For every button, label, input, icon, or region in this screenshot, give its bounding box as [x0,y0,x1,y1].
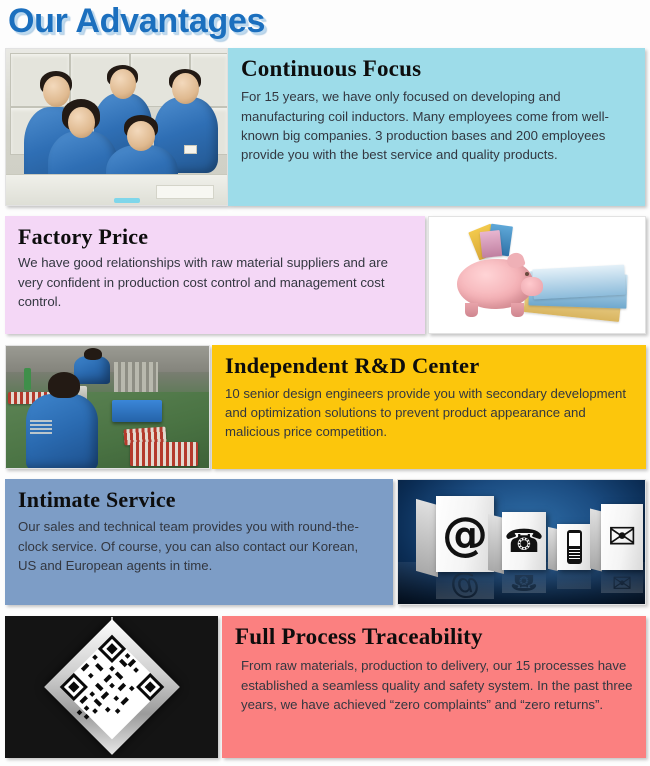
blue-tool [114,198,140,203]
contact-photo-scene: @ @ ☎ ☎ ✉ ✉ [398,480,645,604]
page-title: Our Advantages [8,2,265,41]
banknote [480,230,503,258]
worker-head [127,121,155,151]
advantages-page: Our Advantages [0,0,650,766]
piggy-bank-snout [521,277,543,296]
qr-metal-frame [44,619,180,755]
mobile-phone-reflection [557,571,591,589]
mobile-phone-icon [557,524,591,570]
telephone-reflection: ☎ [502,571,546,593]
advantage-body: For 15 years, we have only focused on de… [241,87,632,165]
qr-code-pattern [59,635,164,740]
advantage-panel-continuous-focus: Continuous Focus For 15 years, we have o… [228,48,645,206]
advantage-heading: Continuous Focus [241,57,632,81]
mobile-phone-glyph [567,530,582,564]
worker-hair [84,348,102,360]
assembly-bench-photo [5,345,210,469]
advantage-heading: Full Process Traceability [235,625,633,649]
piggy-bank-leg [465,303,478,317]
piggy-photo-scene [429,217,645,333]
advantage-heading: Factory Price [18,225,412,248]
piggy-bank-eye [525,272,529,276]
radiator [114,362,158,392]
component-tray [130,442,198,466]
qr-finder-pattern [136,673,164,701]
advantage-heading: Independent R&D Center [225,354,633,378]
green-bottle [24,368,31,390]
worker-head [172,73,199,104]
advantage-panel-factory-price: Factory Price We have good relationships… [5,216,425,334]
advantage-panel-independent-rd-center: Independent R&D Center 10 senior design … [212,345,646,469]
advantage-panel-full-process-traceability: Full Process Traceability From raw mater… [222,616,646,758]
envelope-reflection: ✉ [601,571,643,593]
worker-hair [48,372,80,398]
advantage-body: 10 senior design engineers provide you w… [225,384,633,442]
advantage-heading: Intimate Service [18,488,380,511]
uniform-logo [30,420,52,434]
paper-sheet [156,185,214,199]
assembly-photo-scene [6,346,209,468]
advantage-body: Our sales and technical team provides yo… [18,517,380,575]
envelope-icon: ✉ [601,504,643,570]
qr-photo-scene [6,617,217,757]
advantage-row-continuous-focus: Continuous Focus For 15 years, we have o… [0,48,650,210]
background-worker [74,356,110,384]
at-sign-reflection: @ [436,573,494,599]
box-side-panel [416,499,438,577]
worker-head [110,69,136,99]
piggy-bank-leg [511,303,524,317]
at-sign-icon: @ [436,496,494,572]
phone-screen [569,533,580,546]
worker-head [68,107,95,138]
contact-icons-photo: @ @ ☎ ☎ ✉ ✉ [397,479,646,605]
phone-keypad [569,549,580,561]
advantage-row-factory-price: Factory Price We have good relationships… [0,216,650,338]
advantage-row-intimate-service: Intimate Service Our sales and technical… [0,479,650,609]
piggy-bank-photo [428,216,646,334]
banknote [532,265,625,300]
advantage-body: We have good relationships with raw mate… [18,253,412,311]
factory-team-photo [5,48,228,206]
advantage-body: From raw materials, production to delive… [235,656,633,714]
qr-code-tag-photo [5,616,218,758]
advantage-row-independent-rd-center: Independent R&D Center 10 senior design … [0,345,650,473]
id-badge [184,145,197,154]
blue-parts-bin [112,400,162,422]
worker-head [43,76,70,107]
team-photo-scene [6,49,227,205]
advantage-panel-intimate-service: Intimate Service Our sales and technical… [5,479,393,605]
advantage-row-full-process-traceability: Full Process Traceability From raw mater… [0,616,650,762]
telephone-icon: ☎ [502,512,546,570]
